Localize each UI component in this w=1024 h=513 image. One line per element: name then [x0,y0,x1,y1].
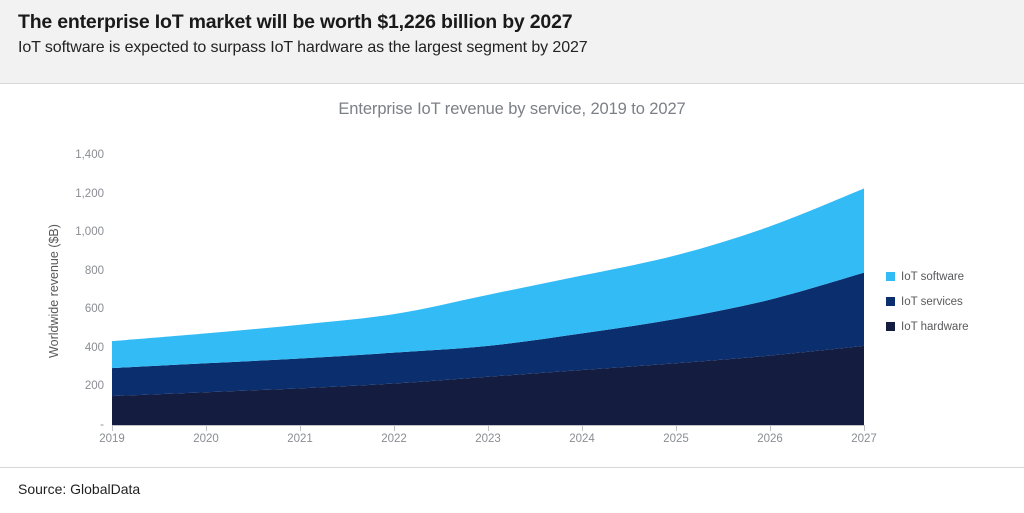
page-title: The enterprise IoT market will be worth … [18,11,1024,34]
x-tick-label: 2022 [381,433,407,445]
x-tick-label: 2026 [757,433,783,445]
x-axis-tick-mark [206,426,207,431]
legend-item[interactable]: IoT services [886,290,1018,313]
plot-area [112,84,864,467]
footer-band: Source: GlobalData [0,467,1024,513]
chart-region: Enterprise IoT revenue by service, 2019 … [0,84,1024,467]
x-axis-tick-mark [394,426,395,431]
y-tick-label: 400 [46,342,104,354]
y-tick-label: 200 [46,380,104,392]
x-tick-label: 2024 [569,433,595,445]
x-tick-label: 2021 [287,433,313,445]
legend-item[interactable]: IoT software [886,265,1018,288]
x-tick-label: 2019 [99,433,125,445]
x-axis-tick-mark [112,426,113,431]
legend: IoT softwareIoT servicesIoT hardware [886,265,1018,340]
legend-item-label: IoT services [901,296,963,308]
y-tick-label: 1,200 [46,188,104,200]
chart-page: The enterprise IoT market will be worth … [0,0,1024,513]
x-tick-label: 2023 [475,433,501,445]
x-axis-tick-mark [488,426,489,431]
stacked-area-svg [112,84,864,467]
y-tick-label: 800 [46,265,104,277]
x-axis-tick-mark [300,426,301,431]
x-tick-label: 2020 [193,433,219,445]
legend-swatch-icon [886,297,895,306]
y-tick-label: 1,400 [46,149,104,161]
header-band: The enterprise IoT market will be worth … [0,0,1024,84]
legend-item[interactable]: IoT hardware [886,315,1018,338]
y-tick-label: 600 [46,303,104,315]
x-axis-tick-mark [676,426,677,431]
legend-swatch-icon [886,322,895,331]
source-label: Source: GlobalData [18,481,140,497]
page-subtitle: IoT software is expected to surpass IoT … [18,38,1024,58]
legend-swatch-icon [886,272,895,281]
x-tick-label: 2027 [851,433,877,445]
x-axis-tick-mark [582,426,583,431]
plot-wrapper: Worldwide revenue ($B) -2004006008001,00… [0,84,1024,467]
y-tick-label: - [46,419,104,431]
x-axis-tick-mark [770,426,771,431]
x-axis-tick-mark [864,426,865,431]
legend-item-label: IoT hardware [901,321,969,333]
y-tick-label: 1,000 [46,226,104,238]
y-axis-ticks: -2004006008001,0001,2001,400 [46,84,104,467]
x-tick-label: 2025 [663,433,689,445]
legend-item-label: IoT software [901,271,964,283]
